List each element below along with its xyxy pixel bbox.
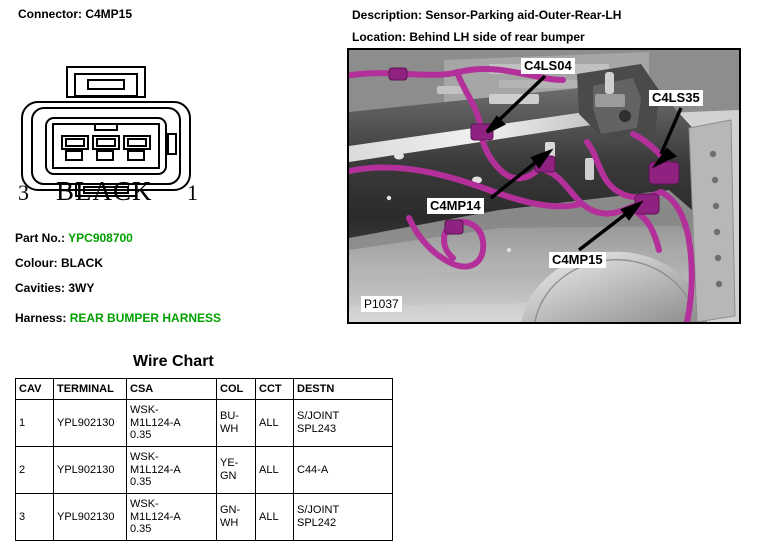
spec-harness: Harness: REAR BUMPER HARNESS: [15, 311, 221, 325]
column-header-cct: CCT: [256, 379, 294, 400]
location-line: Location: Behind LH side of rear bumper: [352, 30, 585, 44]
column-header-csa: CSA: [127, 379, 217, 400]
table-header-row: CAV TERMINAL CSA COL CCT DESTN: [16, 379, 393, 400]
column-header-destn: DESTN: [294, 379, 393, 400]
description-line: Description: Sensor-Parking aid-Outer-Re…: [352, 8, 621, 22]
description-label: Description:: [352, 8, 422, 22]
connector-header: Connector: C4MP15: [18, 7, 132, 21]
callout-label-c4mp14: C4MP14: [427, 198, 484, 214]
cell-terminal: YPL902130: [54, 400, 127, 447]
table-row: 1 YPL902130 WSK- M1L124-A 0.35 BU- WH AL…: [16, 400, 393, 447]
spec-colour-label: Colour:: [15, 256, 58, 270]
table-row: 3 YPL902130 WSK- M1L124-A 0.35 GN- WH AL…: [16, 494, 393, 541]
cell-col: YE- GN: [217, 447, 256, 494]
cell-destn: C44-A: [294, 447, 393, 494]
spec-part-number-value: YPC908700: [68, 231, 133, 245]
cell-terminal: YPL902130: [54, 447, 127, 494]
cell-col: GN- WH: [217, 494, 256, 541]
location-value: Behind LH side of rear bumper: [409, 30, 584, 44]
spec-part-number-label: Part No.:: [15, 231, 65, 245]
spec-harness-value: REAR BUMPER HARNESS: [70, 311, 221, 325]
spec-cavities: Cavities: 3WY: [15, 281, 94, 295]
spec-cavities-value: 3WY: [68, 281, 94, 295]
column-header-terminal: TERMINAL: [54, 379, 127, 400]
connector-header-label: Connector:: [18, 7, 82, 21]
column-header-col: COL: [217, 379, 256, 400]
column-header-cav: CAV: [16, 379, 54, 400]
cell-cct: ALL: [256, 494, 294, 541]
wire-chart-title: Wire Chart: [133, 353, 214, 371]
callout-label-c4mp15: C4MP15: [549, 252, 606, 268]
callout-label-c4ls04: C4LS04: [521, 58, 575, 74]
connector-header-value: C4MP15: [85, 7, 132, 21]
cell-terminal: YPL902130: [54, 494, 127, 541]
cell-cct: ALL: [256, 400, 294, 447]
cell-csa: WSK- M1L124-A 0.35: [127, 494, 217, 541]
cell-cav: 3: [16, 494, 54, 541]
wire-chart-table: CAV TERMINAL CSA COL CCT DESTN 1 YPL9021…: [15, 378, 393, 541]
pin-number-left: 3: [18, 182, 29, 204]
table-row: 2 YPL902130 WSK- M1L124-A 0.35 YE- GN AL…: [16, 447, 393, 494]
spec-cavities-label: Cavities:: [15, 281, 65, 295]
callout-label-c4ls35: C4LS35: [649, 90, 703, 106]
connector-colour-caption: BLACK: [56, 176, 153, 207]
photo-reference-id: P1037: [361, 296, 402, 312]
location-label: Location:: [352, 30, 406, 44]
pin-number-right: 1: [187, 182, 198, 204]
cell-cav: 2: [16, 447, 54, 494]
spec-harness-label: Harness:: [15, 311, 66, 325]
spec-colour-value: BLACK: [61, 256, 103, 270]
component-location-photo: C4LS04 C4LS35 C4MP14 C4MP15 P1037: [347, 48, 741, 324]
cell-cav: 1: [16, 400, 54, 447]
cell-destn: S/JOINT SPL243: [294, 400, 393, 447]
cell-csa: WSK- M1L124-A 0.35: [127, 400, 217, 447]
cell-csa: WSK- M1L124-A 0.35: [127, 447, 217, 494]
cell-col: BU- WH: [217, 400, 256, 447]
cell-destn: S/JOINT SPL242: [294, 494, 393, 541]
spec-part-number: Part No.: YPC908700: [15, 231, 133, 245]
spec-colour: Colour: BLACK: [15, 256, 103, 270]
cell-cct: ALL: [256, 447, 294, 494]
description-value: Sensor-Parking aid-Outer-Rear-LH: [425, 8, 621, 22]
